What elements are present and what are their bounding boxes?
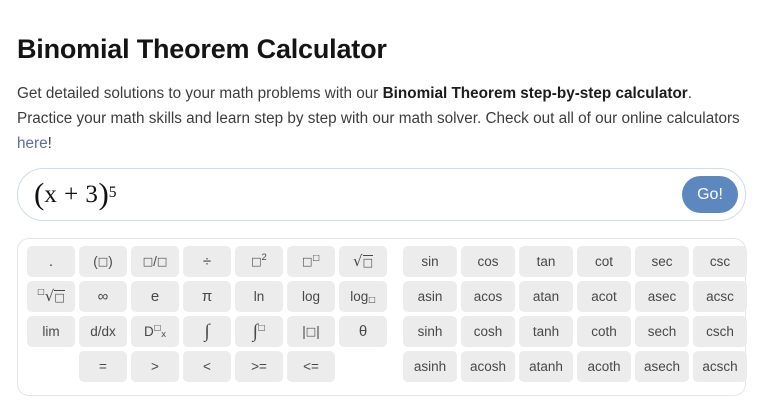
expression-open-paren: ( xyxy=(34,178,44,209)
key-parentheses[interactable]: (□) xyxy=(79,246,127,277)
key-theta[interactable]: θ xyxy=(339,316,387,347)
key-acsch[interactable]: acsch xyxy=(693,351,747,382)
trig-row-1: sin cos tan cot sec csc xyxy=(403,246,747,277)
key-natural-log[interactable]: ln xyxy=(235,281,283,312)
page-title: Binomial Theorem Calculator xyxy=(17,34,387,65)
online-calculators-link[interactable]: here xyxy=(17,135,48,152)
key-asech[interactable]: asech xyxy=(635,351,689,382)
key-pi[interactable]: π xyxy=(183,281,231,312)
key-cos[interactable]: cos xyxy=(461,246,515,277)
key-atanh[interactable]: atanh xyxy=(519,351,573,382)
key-nth-root[interactable]: □√□ xyxy=(27,281,75,312)
key-acoth[interactable]: acoth xyxy=(577,351,631,382)
go-button[interactable]: Go! xyxy=(682,176,738,213)
key-csch[interactable]: csch xyxy=(693,316,747,347)
key-nth-derivative[interactable]: D□x xyxy=(131,316,179,347)
key-infinity[interactable]: ∞ xyxy=(79,281,127,312)
key-tan[interactable]: tan xyxy=(519,246,573,277)
description-part-1: Get detailed solutions to your math prob… xyxy=(17,85,383,102)
key-cosh[interactable]: cosh xyxy=(461,316,515,347)
description-part-3: ! xyxy=(48,135,52,152)
key-fraction[interactable]: □/□ xyxy=(131,246,179,277)
key-divide[interactable]: ÷ xyxy=(183,246,231,277)
key-asinh[interactable]: asinh xyxy=(403,351,457,382)
key-greater-than[interactable]: > xyxy=(131,351,179,382)
key-csc[interactable]: csc xyxy=(693,246,747,277)
keypad-symbols-section: . (□) □/□ ÷ □2 □□ √□ □√□ ∞ e π ln log lo… xyxy=(27,246,387,386)
description-bold-1: Binomial Theorem step-by-step calculator xyxy=(383,85,688,102)
expression-base: x + 3 xyxy=(44,181,98,209)
trig-row-4: asinh acosh atanh acoth asech acsch xyxy=(403,351,747,382)
key-log[interactable]: log xyxy=(287,281,335,312)
key-integral[interactable]: ∫ xyxy=(183,316,231,347)
key-cot[interactable]: cot xyxy=(577,246,631,277)
key-sinh[interactable]: sinh xyxy=(403,316,457,347)
key-log-base[interactable]: log□ xyxy=(339,281,387,312)
trig-row-2: asin acos atan acot asec acsc xyxy=(403,281,747,312)
key-definite-integral[interactable]: ∫□ xyxy=(235,316,283,347)
keypad-row-2: □√□ ∞ e π ln log log□ xyxy=(27,281,387,312)
keypad-row-3: lim d/dx D□x ∫ ∫□ |□| θ xyxy=(27,316,387,347)
keypad-row-4: = > < >= <= xyxy=(27,351,387,382)
key-less-equal[interactable]: <= xyxy=(287,351,335,382)
key-acosh[interactable]: acosh xyxy=(461,351,515,382)
key-square-root[interactable]: √□ xyxy=(339,246,387,277)
expression-input-field[interactable]: (x + 3)5 Go! xyxy=(17,168,746,221)
key-less-than[interactable]: < xyxy=(183,351,231,382)
key-power[interactable]: □□ xyxy=(287,246,335,277)
expression-exponent: 5 xyxy=(109,184,117,202)
expression-display[interactable]: (x + 3)5 xyxy=(34,169,117,220)
key-euler-e[interactable]: e xyxy=(131,281,179,312)
keypad-trig-section: sin cos tan cot sec csc asin acos atan a… xyxy=(403,246,747,386)
trig-row-3: sinh cosh tanh coth sech csch xyxy=(403,316,747,347)
key-spacer xyxy=(27,351,75,382)
keypad-panel: . (□) □/□ ÷ □2 □□ √□ □√□ ∞ e π ln log lo… xyxy=(17,238,746,396)
key-tanh[interactable]: tanh xyxy=(519,316,573,347)
key-sin[interactable]: sin xyxy=(403,246,457,277)
key-absolute-value[interactable]: |□| xyxy=(287,316,335,347)
key-derivative[interactable]: d/dx xyxy=(79,316,127,347)
expression-close-paren: ) xyxy=(98,178,108,209)
key-equals[interactable]: = xyxy=(79,351,127,382)
key-coth[interactable]: coth xyxy=(577,316,631,347)
key-limit[interactable]: lim xyxy=(27,316,75,347)
page-description: Get detailed solutions to your math prob… xyxy=(17,81,743,156)
key-acsc[interactable]: acsc xyxy=(693,281,747,312)
key-square[interactable]: □2 xyxy=(235,246,283,277)
key-atan[interactable]: atan xyxy=(519,281,573,312)
keypad-row-1: . (□) □/□ ÷ □2 □□ √□ xyxy=(27,246,387,277)
key-greater-equal[interactable]: >= xyxy=(235,351,283,382)
key-sech[interactable]: sech xyxy=(635,316,689,347)
key-acos[interactable]: acos xyxy=(461,281,515,312)
key-sec[interactable]: sec xyxy=(635,246,689,277)
key-asin[interactable]: asin xyxy=(403,281,457,312)
calculator-page: Binomial Theorem Calculator Get detailed… xyxy=(0,0,768,418)
key-asec[interactable]: asec xyxy=(635,281,689,312)
key-decimal-point[interactable]: . xyxy=(27,246,75,277)
key-acot[interactable]: acot xyxy=(577,281,631,312)
